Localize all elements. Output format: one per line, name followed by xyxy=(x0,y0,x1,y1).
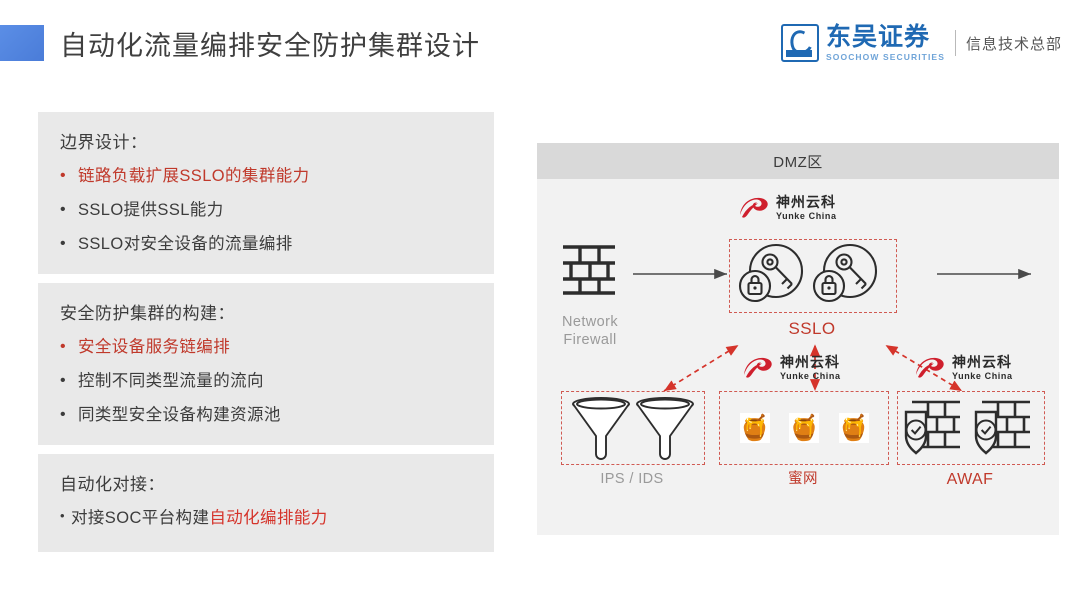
bullet-marker: • xyxy=(60,406,78,424)
vendor-name-cn: 神州云科 xyxy=(780,355,841,369)
bullet-item: • 同类型安全设备构建资源池 xyxy=(60,406,472,425)
node-network-firewall[interactable] xyxy=(561,243,617,300)
vendor-logo-sslo: 神州云科 Yunke China xyxy=(737,195,837,221)
vendor-logo-texts: 神州云科 Yunke China xyxy=(780,355,841,381)
page-title: 自动化流量编排安全防护集群设计 xyxy=(60,24,480,63)
bullet-marker: • xyxy=(60,509,71,524)
key-lock-icon xyxy=(814,245,876,301)
panel-title: 边界设计： xyxy=(60,128,472,153)
bullet-item: • 安全设备服务链编排 xyxy=(60,338,472,357)
company-logo: 东吴证券 SOOCHOW SECURITIES 信息技术总部 xyxy=(781,22,1062,64)
brand-divider xyxy=(955,30,956,56)
node-label-sslo: SSLO xyxy=(752,318,872,339)
panel-title: 安全防护集群的构建： xyxy=(60,299,472,324)
node-ips-ids[interactable] xyxy=(561,391,705,465)
bullet-item: • SSLO提供SSL能力 xyxy=(60,201,472,220)
key-lock-icon xyxy=(740,245,802,301)
bullet-panels: 边界设计： • 链路负载扩展SSLO的集群能力 • SSLO提供SSL能力 • … xyxy=(38,112,494,561)
yunke-swoosh-icon xyxy=(737,195,771,220)
yunke-swoosh-icon xyxy=(741,355,775,380)
honeypot-icon: 🍯 xyxy=(839,413,869,443)
slide-header: 自动化流量编排安全防护集群设计 东吴证券 SOOCHOW SECURITIES … xyxy=(0,0,1080,82)
bullet-marker: • xyxy=(60,372,78,390)
honeypot-icon: 🍯 xyxy=(740,413,770,443)
node-label-awaf: AWAF xyxy=(897,470,1043,490)
panel-security-cluster: 安全防护集群的构建： • 安全设备服务链编排 • 控制不同类型流量的流向 • 同… xyxy=(38,283,494,445)
bullet-item: • 对接SOC平台构建自动化编排能力 xyxy=(60,509,472,528)
bullet-text: SSLO对安全设备的流量编排 xyxy=(78,235,472,254)
yunke-swoosh-icon xyxy=(913,355,947,380)
brand-name-en: SOOCHOW SECURITIES xyxy=(826,53,945,62)
soochow-logo-mark-icon xyxy=(781,24,819,62)
honeypot-icon: 🍯 xyxy=(789,413,819,443)
node-honeynet[interactable]: 🍯 🍯 🍯 xyxy=(719,391,889,465)
shield-wall-icon-group xyxy=(898,392,1044,464)
node-label-network-firewall: Network Firewall xyxy=(547,313,633,349)
vendor-name-en: Yunke China xyxy=(780,372,841,381)
bullet-text-plain: 对接SOC平台构建 xyxy=(71,509,209,527)
bullet-text: 对接SOC平台构建自动化编排能力 xyxy=(71,509,472,528)
vendor-name-en: Yunke China xyxy=(952,372,1013,381)
panel-boundary-design: 边界设计： • 链路负载扩展SSLO的集群能力 • SSLO提供SSL能力 • … xyxy=(38,112,494,274)
bullet-text: SSLO提供SSL能力 xyxy=(78,201,472,220)
connector-sslo-to-ips-ids xyxy=(664,346,737,391)
bullet-marker: • xyxy=(60,235,78,253)
funnel-icon xyxy=(637,398,693,459)
brand-texts: 东吴证券 SOOCHOW SECURITIES xyxy=(826,25,945,62)
bullet-text: 链路负载扩展SSLO的集群能力 xyxy=(78,167,472,186)
shield-wall-icon xyxy=(976,402,1030,453)
vendor-name-cn: 神州云科 xyxy=(952,355,1013,369)
bullet-marker: • xyxy=(60,201,78,219)
vendor-logo-honeynet: 神州云科 Yunke China xyxy=(741,355,841,381)
vendor-logo-texts: 神州云科 Yunke China xyxy=(776,195,837,221)
brick-wall-icon xyxy=(561,243,617,295)
vendor-logo-awaf: 神州云科 Yunke China xyxy=(913,355,1013,381)
panel-title: 自动化对接： xyxy=(60,470,472,495)
brand-department: 信息技术总部 xyxy=(966,33,1062,54)
bullet-item: • 控制不同类型流量的流向 xyxy=(60,372,472,391)
brand-name-cn: 东吴证券 xyxy=(826,25,945,50)
shield-wall-icon xyxy=(906,402,960,453)
node-label-ips-ids: IPS / IDS xyxy=(561,470,703,488)
bullet-text: 安全设备服务链编排 xyxy=(78,338,472,357)
key-lock-icon-group xyxy=(730,240,896,312)
bullet-marker: • xyxy=(60,338,78,356)
bullet-text: 控制不同类型流量的流向 xyxy=(78,372,472,391)
bullet-item: • 链路负载扩展SSLO的集群能力 xyxy=(60,167,472,186)
title-accent-bar xyxy=(0,25,44,61)
bullet-marker: • xyxy=(60,167,78,185)
node-awaf[interactable] xyxy=(897,391,1045,465)
vendor-name-en: Yunke China xyxy=(776,212,837,221)
bullet-text: 同类型安全设备构建资源池 xyxy=(78,406,472,425)
node-sslo[interactable] xyxy=(729,239,897,313)
bullet-text-highlight: 自动化编排能力 xyxy=(209,509,327,527)
funnel-icon-group xyxy=(562,392,704,464)
vendor-logo-texts: 神州云科 Yunke China xyxy=(952,355,1013,381)
bullet-item: • SSLO对安全设备的流量编排 xyxy=(60,235,472,254)
funnel-icon xyxy=(573,398,629,459)
vendor-name-cn: 神州云科 xyxy=(776,195,837,209)
panel-automation: 自动化对接： • 对接SOC平台构建自动化编排能力 xyxy=(38,454,494,552)
architecture-diagram: DMZ区 xyxy=(537,143,1059,535)
node-label-honeynet: 蜜网 xyxy=(719,470,887,488)
